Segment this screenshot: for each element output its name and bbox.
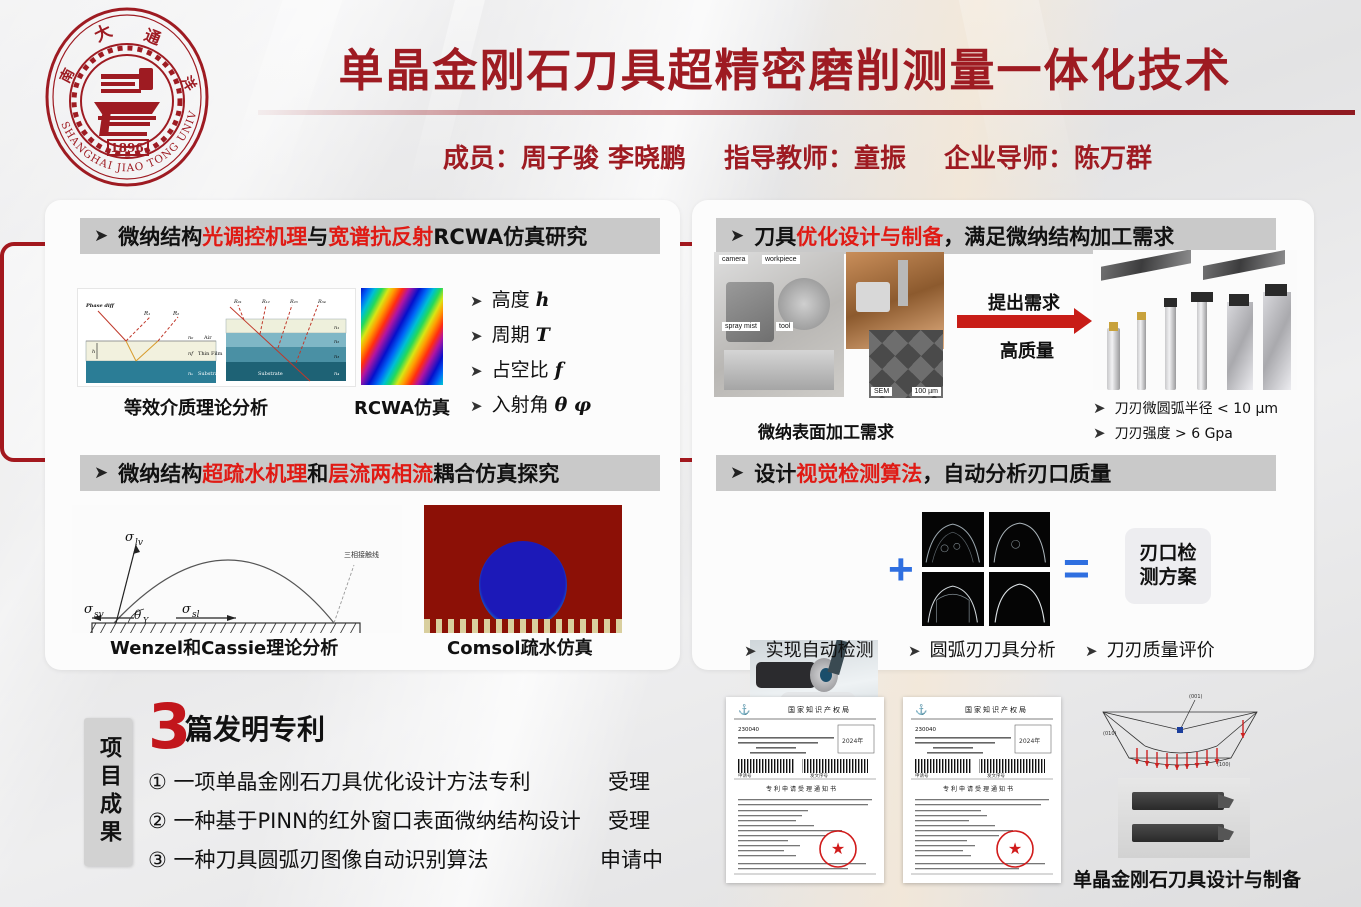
arrow-label-quality: 高质量 <box>1000 337 1054 363</box>
members-value: 周子骏 李晓鹏 <box>521 138 686 175</box>
svg-text:Thin Film: Thin Film <box>198 351 223 357</box>
bullet-arrow-icon: ➤ <box>1093 399 1106 417</box>
section-title-part: 微纳结构 <box>118 221 202 251</box>
bullet-arrow-icon: ➤ <box>730 226 744 246</box>
svg-text:⚓: ⚓ <box>915 703 927 716</box>
section-title-part-highlight: 层流两相流 <box>328 458 433 488</box>
svg-text:Y: Y <box>143 616 149 625</box>
poster-header: 1896 大 通 南 洋 SHANGHAI JIAO TONG UNIVERSI… <box>0 0 1361 196</box>
param-symbol: θ φ <box>555 394 591 416</box>
svg-text:lv: lv <box>135 538 143 548</box>
label-spray-mist: spray mist <box>722 322 760 331</box>
svg-text:σ: σ <box>182 602 192 617</box>
edge-image-tile <box>989 512 1051 567</box>
section-title-part-highlight: 超疏水机理 <box>202 458 307 488</box>
label-sem: SEM <box>871 387 892 396</box>
param-item-period: ➤周期 T <box>470 320 550 347</box>
spec-item-radius: ➤刀刃微圆弧半径 < 10 µm <box>1093 398 1278 418</box>
svg-text:R₂: R₂ <box>172 311 179 317</box>
patent-status: 受理 <box>608 805 650 835</box>
tool-endmill <box>1137 318 1146 390</box>
mentor-value: 陈万群 <box>1074 138 1152 175</box>
process-arrow-icon <box>957 315 1075 328</box>
tool-tip <box>1229 294 1249 306</box>
param-label: 入射角 <box>492 394 549 416</box>
svg-text:2024年: 2024年 <box>842 737 863 745</box>
spec-item-strength: ➤刀刃强度 > 6 Gpa <box>1093 423 1233 443</box>
caption-wenzel-cassie: Wenzel和Cassie理论分析 <box>110 634 338 660</box>
mentor-label: 企业导师： <box>944 138 1074 175</box>
param-item-dutycycle: ➤占空比 f <box>470 355 563 382</box>
patent-text: 一种基于PINN的红外窗口表面微纳结构设计 <box>174 809 581 833</box>
caption-micro-surface-demand: 微纳表面加工需求 <box>758 418 894 443</box>
figure-sem-microstructure: SEM 100 µm <box>869 330 943 398</box>
page-title: 单晶金刚石刀具超精密磨削测量一体化技术 <box>255 34 1315 99</box>
svg-text:sl: sl <box>192 610 200 620</box>
figure-rcwa-simulation <box>361 288 443 385</box>
figure-crystal-orientation: (001) (010) (100) <box>1085 690 1275 785</box>
figure-tool-collection <box>1093 250 1297 390</box>
svg-text:2024年: 2024年 <box>1019 737 1040 745</box>
diamond-tool-bar <box>1132 792 1224 810</box>
label-tool: tool <box>776 322 793 331</box>
spec-text: 刀刃强度 > 6 Gpa <box>1115 426 1233 442</box>
tool-holder <box>1263 292 1291 390</box>
section-title-part: ，自动分析刃口质量 <box>922 458 1111 488</box>
bullet-arrow-icon: ➤ <box>908 642 921 660</box>
section-title-part: 刀具 <box>754 221 796 251</box>
caption-rcwa: RCWA仿真 <box>354 394 450 420</box>
svg-text:230040: 230040 <box>738 727 759 733</box>
figure-diamond-tools-photo <box>1118 778 1250 858</box>
detect-bullet-quality: ➤刀刃质量评价 <box>1085 636 1215 662</box>
svg-text:大: 大 <box>91 20 115 46</box>
svg-text:★: ★ <box>1008 841 1022 858</box>
svg-text:发文序号: 发文序号 <box>987 772 1005 779</box>
svg-text:R₂₃: R₂₃ <box>289 299 298 305</box>
tool-tip <box>1191 292 1213 302</box>
bullet-arrow-icon: ➤ <box>470 292 483 310</box>
bullet-arrow-icon: ➤ <box>94 463 108 483</box>
param-symbol: T <box>536 324 550 346</box>
plus-icon: + <box>888 548 914 592</box>
svg-text:三相接触线: 三相接触线 <box>344 550 379 559</box>
svg-text:h: h <box>92 349 95 355</box>
svg-text:国家知识产权局: 国家知识产权局 <box>965 705 1028 714</box>
authors-line: 成员：周子骏 李晓鹏 指导教师：童振 企业导师：陈万群 <box>255 138 1340 175</box>
micro-pillar-array <box>424 619 622 633</box>
advisor-label: 指导教师： <box>724 138 854 175</box>
svg-text:专利申请受理通知书: 专利申请受理通知书 <box>766 785 838 793</box>
figure-edge-detection-grid <box>922 512 1050 626</box>
tool-holder <box>1227 302 1253 390</box>
section-title-part-highlight: 优化设计与制备 <box>796 221 943 251</box>
patent-number: ② <box>148 809 167 833</box>
advisor-value: 童振 <box>854 138 906 175</box>
svg-text:R₃₄: R₃₄ <box>317 299 326 305</box>
arrow-label-demand: 提出需求 <box>988 289 1060 315</box>
detect-bullet-auto: ➤实现自动检测 <box>744 636 874 662</box>
svg-text:1896: 1896 <box>110 141 143 155</box>
figure-machining-setup: camera workpiece spray mist tool <box>714 252 844 397</box>
spec-text: 刀刃微圆弧半径 < 10 µm <box>1115 401 1278 417</box>
svg-text:专利申请受理通知书: 专利申请受理通知书 <box>943 785 1015 793</box>
tool-tip <box>1164 298 1177 307</box>
section-title-part-highlight: 宽谱抗反射 <box>328 221 433 251</box>
edge-image-tile <box>922 572 984 627</box>
bullet-arrow-icon: ➤ <box>470 362 483 380</box>
section-title-part: 设计 <box>754 458 796 488</box>
bullet-arrow-icon: ➤ <box>94 226 108 246</box>
tool-endmill <box>1197 300 1207 390</box>
svg-text:σ: σ <box>125 530 135 545</box>
svg-text:n₁: n₁ <box>334 325 339 331</box>
section-title-part-highlight: 光调控机理 <box>202 221 307 251</box>
section-header-tool-design: ➤ 刀具 优化设计与制备 ，满足微纳结构加工需求 <box>716 218 1276 254</box>
figure-thin-film-theory: Phase diff R₁ R₂ n₀ Air nf Thin Film nₛ … <box>77 288 356 387</box>
param-symbol: f <box>555 359 563 381</box>
svg-text:申请号: 申请号 <box>915 772 929 779</box>
patent-number: ① <box>148 770 167 794</box>
sjtu-seal-logo: 1896 大 通 南 洋 SHANGHAI JIAO TONG UNIVERSI… <box>38 6 216 188</box>
section-header-hydrophobic: ➤ 微纳结构 超疏水机理 和 层流两相流 耦合仿真探究 <box>80 455 660 491</box>
patent-status: 受理 <box>608 766 650 796</box>
equals-icon: = <box>1063 545 1090 591</box>
droplet-shape <box>479 541 567 629</box>
label-workpiece: workpiece <box>762 255 800 264</box>
section-title-part: ，满足微纳结构加工需求 <box>943 221 1174 251</box>
poster-root: 1896 大 通 南 洋 SHANGHAI JIAO TONG UNIVERSI… <box>0 0 1361 907</box>
bullet-arrow-icon: ➤ <box>744 642 757 660</box>
svg-text:sv: sv <box>94 610 104 620</box>
patent-count-label: 篇发明专利 <box>185 708 325 748</box>
section-title-part: 与 <box>307 221 328 251</box>
bullet-arrow-icon: ➤ <box>470 327 483 345</box>
patent-row: ② 一种基于PINN的红外窗口表面微纳结构设计 <box>148 805 581 835</box>
svg-text:Substrate: Substrate <box>198 371 223 377</box>
detect-bullet-text: 刀刃质量评价 <box>1107 640 1215 661</box>
caption-effective-medium: 等效介质理论分析 <box>124 394 268 420</box>
figure-wetting-angle: σ lv σ sv σ sl θ Y 三相接触线 <box>72 505 402 633</box>
section-title-part-highlight: 视觉检测算法 <box>796 458 922 488</box>
section-title-part: 耦合仿真探究 <box>433 458 559 488</box>
svg-text:国家知识产权局: 国家知识产权局 <box>788 705 851 714</box>
bullet-arrow-icon: ➤ <box>730 463 744 483</box>
param-label: 周期 <box>492 324 530 346</box>
svg-text:σ: σ <box>84 602 94 617</box>
tool-endmill <box>1107 328 1120 390</box>
detect-bullet-arc: ➤圆弧刃刀具分析 <box>908 636 1056 662</box>
tool-tip <box>1265 284 1287 296</box>
patent-row: ① 一项单晶金刚石刀具优化设计方法专利 <box>148 766 531 796</box>
svg-text:n₀: n₀ <box>188 335 193 341</box>
patent-number: ③ <box>148 848 167 872</box>
edge-image-tile <box>922 512 984 567</box>
svg-text:申请号: 申请号 <box>738 772 752 779</box>
svg-text:⚓: ⚓ <box>738 703 750 716</box>
svg-text:Substrate: Substrate <box>258 371 283 377</box>
figure-comsol-hydrophobic <box>424 505 622 633</box>
diamond-tool-bar <box>1132 824 1224 842</box>
svg-text:nₛ: nₛ <box>188 371 193 377</box>
label-camera: camera <box>719 255 748 264</box>
patent-text: 一种刀具圆弧刃图像自动识别算法 <box>174 848 489 872</box>
detect-bullet-text: 实现自动检测 <box>766 640 874 661</box>
detect-bullet-text: 圆弧刃刀具分析 <box>930 640 1056 661</box>
svg-text:n₄: n₄ <box>334 371 339 377</box>
svg-text:(100): (100) <box>1217 762 1230 768</box>
section-header-vision-detection: ➤ 设计 视觉检测算法 ，自动分析刃口质量 <box>716 455 1276 491</box>
result-line-2: 测方案 <box>1139 566 1196 590</box>
members-label: 成员： <box>443 138 521 175</box>
param-item-height: ➤高度 h <box>470 285 549 312</box>
svg-text:230040: 230040 <box>915 727 936 733</box>
svg-text:θ: θ <box>134 608 142 622</box>
patent-document-1: ⚓ 国家知识产权局 230040 2024年 申请号 发文序号 专利申请受理通知… <box>726 697 884 883</box>
svg-text:(001): (001) <box>1189 694 1202 700</box>
svg-text:R₁: R₁ <box>143 311 150 317</box>
section-header-optical: ➤ 微纳结构 光调控机理 与 宽谱抗反射 RCWA仿真研究 <box>80 218 660 254</box>
result-box-edge-scheme: 刃口检 测方案 <box>1125 528 1211 604</box>
patent-status: 申请中 <box>600 844 663 874</box>
svg-text:Phase diff: Phase diff <box>85 303 115 309</box>
param-label: 占空比 <box>492 359 549 381</box>
section-title-part: 微纳结构 <box>118 458 202 488</box>
bullet-arrow-icon: ➤ <box>1085 642 1098 660</box>
bullet-arrow-icon: ➤ <box>470 397 483 415</box>
svg-text:★: ★ <box>831 841 845 858</box>
patent-document-2: ⚓ 国家知识产权局 230040 2024年 申请号 发文序号 专利申请受理通知… <box>903 697 1061 883</box>
svg-text:通: 通 <box>142 25 164 49</box>
tool-tip <box>1109 322 1118 331</box>
result-line-1: 刃口检 <box>1139 542 1196 566</box>
edge-image-tile <box>989 572 1051 627</box>
achievements-side-tag: 项目成果 <box>84 718 132 866</box>
tool-insert-bar <box>1101 250 1191 281</box>
caption-diamond-tool-design: 单晶金刚石刀具设计与制备 <box>1073 865 1301 892</box>
svg-text:Air: Air <box>203 335 212 341</box>
tool-insert-bar <box>1203 250 1285 280</box>
svg-text:n₂: n₂ <box>334 339 339 345</box>
tool-endmill <box>1165 305 1176 390</box>
section-title-part: 和 <box>307 458 328 488</box>
param-symbol: h <box>536 289 550 311</box>
svg-text:R₀₁: R₀₁ <box>233 299 242 305</box>
title-divider <box>258 110 1355 115</box>
param-item-incidence: ➤入射角 θ φ <box>470 390 591 417</box>
section-title-part: RCWA仿真研究 <box>433 221 587 251</box>
tool-tip <box>1137 312 1146 320</box>
svg-text:(010): (010) <box>1103 731 1116 737</box>
patent-text: 一项单晶金刚石刀具优化设计方法专利 <box>174 770 531 794</box>
svg-text:n₃: n₃ <box>334 354 339 360</box>
patent-row: ③ 一种刀具圆弧刃图像自动识别算法 <box>148 844 489 874</box>
label-scale-bar: 100 µm <box>912 387 942 396</box>
caption-comsol: Comsol疏水仿真 <box>447 634 593 660</box>
svg-text:发文序号: 发文序号 <box>810 772 828 779</box>
param-label: 高度 <box>492 289 530 311</box>
bullet-arrow-icon: ➤ <box>1093 424 1106 442</box>
svg-text:R₁₂: R₁₂ <box>261 299 270 305</box>
